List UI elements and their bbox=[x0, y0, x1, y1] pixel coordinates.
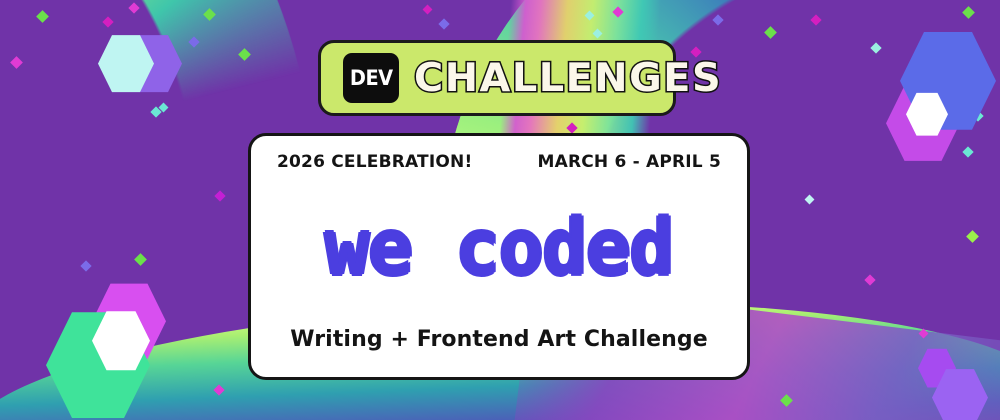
challenge-headline: we coded bbox=[325, 210, 673, 287]
challenges-wordmark: CHALLENGES bbox=[414, 59, 722, 98]
confetti-magenta bbox=[423, 5, 433, 15]
dev-challenges-banner: DEV CHALLENGES 2026 CELEBRATION! MARCH 6… bbox=[0, 0, 1000, 420]
challenge-card: 2026 CELEBRATION! MARCH 6 - APRIL 5 we c… bbox=[248, 133, 750, 380]
dev-logo-text: DEV bbox=[350, 68, 393, 89]
dev-challenges-badge[interactable]: DEV CHALLENGES bbox=[318, 40, 676, 116]
dev-logo-icon: DEV bbox=[343, 53, 399, 103]
confetti-periwinkle bbox=[438, 18, 449, 29]
challenge-subtitle: Writing + Frontend Art Challenge bbox=[277, 329, 721, 357]
headline-container: we coded bbox=[277, 167, 721, 329]
